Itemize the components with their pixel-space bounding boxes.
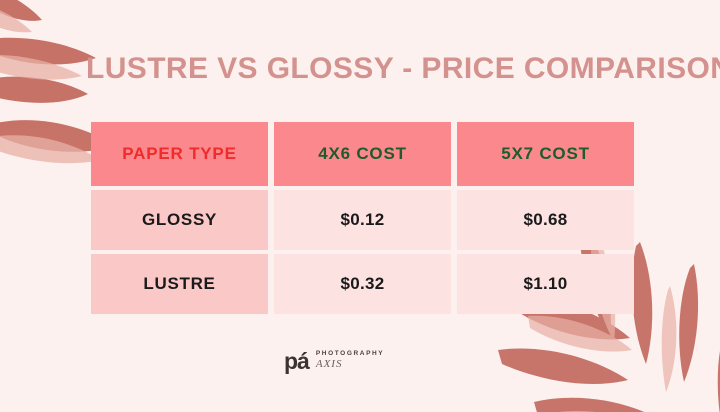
logo-word-photography: PHOTOGRAPHY — [316, 351, 384, 358]
brand-logo: pá PHOTOGRAPHY AXIS — [284, 344, 436, 378]
page-title: LUSTRE VS GLOSSY - PRICE COMPARISON — [86, 52, 646, 86]
table-header-row: PAPER TYPE 4X6 COST 5X7 COST — [91, 122, 634, 186]
price-comparison-table: PAPER TYPE 4X6 COST 5X7 COST GLOSSY $0.1… — [85, 118, 640, 318]
column-header-paper-type: PAPER TYPE — [91, 122, 268, 186]
cell-glossy-4x6-cost: $0.12 — [274, 190, 451, 250]
column-header-4x6-cost: 4X6 COST — [274, 122, 451, 186]
cell-paper-type-glossy: GLOSSY — [91, 190, 268, 250]
table-row: GLOSSY $0.12 $0.68 — [91, 190, 634, 250]
cell-lustre-5x7-cost: $1.10 — [457, 254, 634, 314]
logo-wordmark: PHOTOGRAPHY AXIS — [316, 351, 384, 370]
cell-paper-type-lustre: LUSTRE — [91, 254, 268, 314]
cell-lustre-4x6-cost: $0.32 — [274, 254, 451, 314]
table-body: GLOSSY $0.12 $0.68 LUSTRE $0.32 $1.10 — [91, 190, 634, 314]
cell-glossy-5x7-cost: $0.68 — [457, 190, 634, 250]
infographic-canvas: LUSTRE VS GLOSSY - PRICE COMPARISON PAPE… — [0, 0, 720, 412]
column-header-5x7-cost: 5X7 COST — [457, 122, 634, 186]
table-header: PAPER TYPE 4X6 COST 5X7 COST — [91, 122, 634, 186]
logo-word-axis: AXIS — [316, 359, 384, 371]
logo-monogram: pá — [284, 350, 309, 373]
table-row: LUSTRE $0.32 $1.10 — [91, 254, 634, 314]
